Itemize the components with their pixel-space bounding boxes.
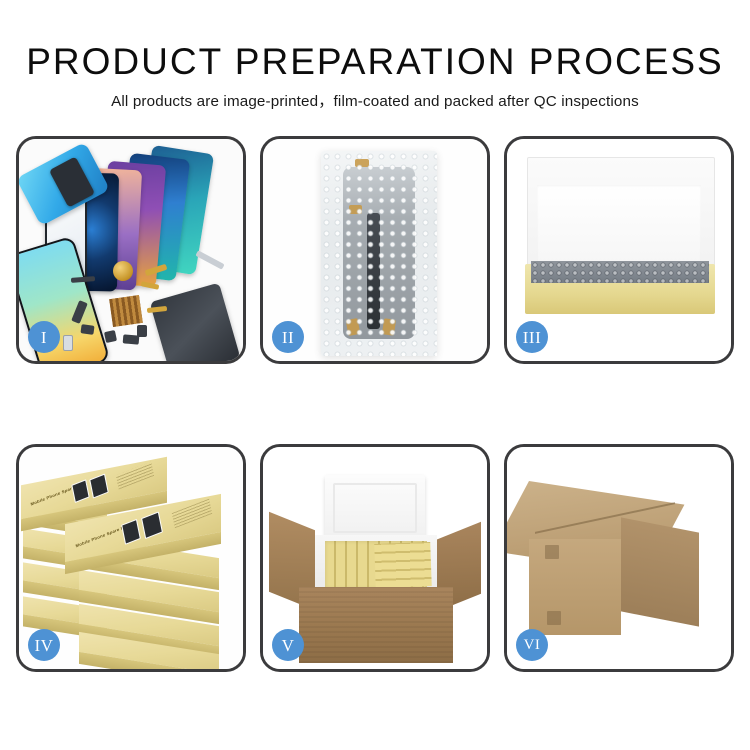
step-panel-i[interactable]: I: [16, 136, 246, 364]
step-panel-vi[interactable]: VI: [504, 444, 734, 672]
step-panel-iv[interactable]: Mobile Phone Spare Parts Mobile Phone Sp…: [16, 444, 246, 672]
page-subtitle: All products are image-printed，film-coat…: [0, 83, 750, 112]
bubble-wrap-bag-icon: [321, 151, 437, 356]
step-badge-v: V: [272, 629, 304, 661]
carton-tab-lower: [547, 611, 561, 625]
step-badge-i: I: [28, 321, 60, 353]
foam-lid-inner: [333, 483, 417, 533]
step-badge-vi: VI: [516, 629, 548, 661]
step-badge-iii: III: [516, 321, 548, 353]
carton-body-icon: [299, 587, 453, 663]
step-panel-v[interactable]: V: [260, 444, 490, 672]
step-badge-ii: II: [272, 321, 304, 353]
process-steps-grid: I II: [16, 136, 734, 680]
page-title: PRODUCT PREPARATION PROCESS: [0, 0, 750, 83]
product-preparation-infographic: PRODUCT PREPARATION PROCESS All products…: [0, 0, 750, 750]
camera-module-icon: [137, 325, 147, 337]
chip-grid-icon: [109, 295, 143, 327]
gold-component-icon: [113, 261, 133, 281]
carton-front-face: [529, 539, 621, 635]
bubble-texture: [531, 261, 709, 283]
small-chip-2-icon: [80, 324, 94, 335]
yellow-boxes-flat-icon: [374, 542, 432, 588]
bubble-wrapped-contents-icon: [531, 261, 709, 283]
small-chip-3-icon: [104, 330, 117, 343]
header: PRODUCT PREPARATION PROCESS All products…: [0, 0, 750, 112]
step-badge-iv: IV: [28, 629, 60, 661]
carton-side-face: [621, 517, 699, 626]
step-panel-ii[interactable]: II: [260, 136, 490, 364]
carton-tab-upper: [545, 545, 559, 559]
sim-tray-icon: [63, 335, 73, 351]
bubble-texture: [321, 151, 437, 356]
step-panel-iii[interactable]: III: [504, 136, 734, 364]
box-lid-inner-icon: [537, 185, 701, 265]
foam-lid-icon: [325, 475, 425, 541]
